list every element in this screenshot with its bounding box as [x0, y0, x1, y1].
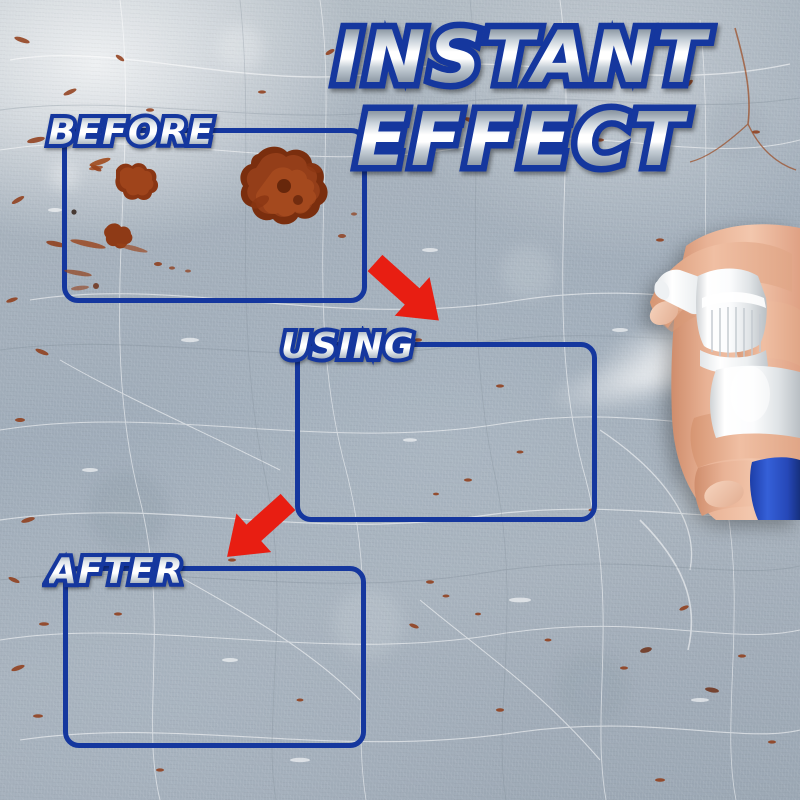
panel-before-label: BEFORE BEFORE	[48, 112, 214, 153]
panel-before-label-text: BEFORE	[48, 112, 214, 153]
panel-using-label-text: USING	[281, 326, 415, 367]
poster-canvas: INSTANT INSTANT EFFECT EFFECT	[0, 0, 800, 800]
panel-after-label: AFTER AFTER	[49, 551, 184, 592]
panel-after-label-text: AFTER	[49, 551, 184, 592]
hand-holding-spray-bottle	[620, 180, 800, 520]
arrow-using-to-after	[210, 483, 306, 577]
panel-using-label: USING USING	[281, 326, 415, 367]
